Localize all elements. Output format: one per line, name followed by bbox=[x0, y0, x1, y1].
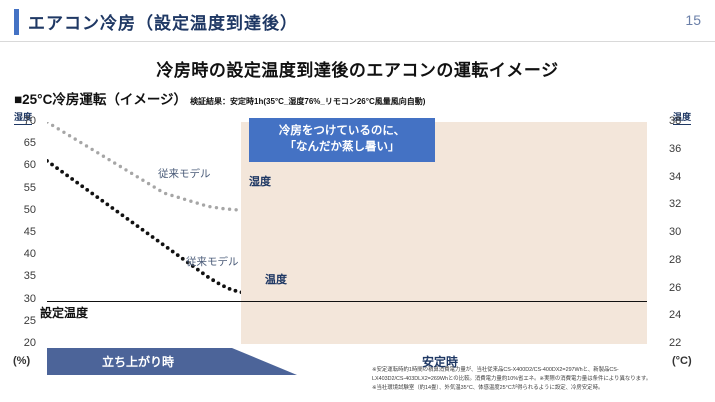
section-label-row: ■25°C冷房運転（イメージ） 検証結果：安定時1h(35°C_湿度76%_リモ… bbox=[14, 88, 425, 108]
phase-startup-label: 立ち上がり時 bbox=[102, 353, 174, 370]
slide-header: エアコン冷房（設定温度到達後） 15 bbox=[0, 0, 715, 40]
axis-tick: 40 bbox=[12, 248, 36, 260]
callout-line-2: 「なんだか蒸し暑い」 bbox=[253, 140, 431, 156]
axis-tick: 50 bbox=[12, 204, 36, 216]
axis-tick: 30 bbox=[12, 293, 36, 305]
chart-area: 湿度 (%) 温度 (°C) 7065605550454035302520 38… bbox=[0, 110, 715, 402]
section-label: ■25°C冷房運転（イメージ） bbox=[14, 88, 187, 108]
axis-tick: 55 bbox=[12, 182, 36, 194]
axis-tick: 20 bbox=[12, 337, 36, 349]
page-number: 15 bbox=[685, 12, 701, 28]
footnote-line-2: LX403D2/CS-403DLX2=269Whとの比較。消費電力量約10%省エ… bbox=[372, 375, 712, 384]
axis-tick: 24 bbox=[669, 309, 693, 321]
axis-tick: 30 bbox=[669, 226, 693, 238]
header-divider bbox=[0, 41, 715, 42]
callout-box: 冷房をつけているのに、 「なんだか蒸し暑い」 bbox=[249, 118, 435, 162]
chart-headline: 冷房時の設定温度到達後のエアコンの運転イメージ bbox=[0, 56, 715, 81]
title-accent-bar bbox=[14, 9, 19, 35]
axis-tick: 32 bbox=[669, 198, 693, 210]
set-temperature-line bbox=[47, 301, 647, 302]
axis-tick: 28 bbox=[669, 254, 693, 266]
left-axis-unit: (%) bbox=[13, 355, 30, 367]
set-temperature-label: 設定温度 bbox=[40, 304, 88, 321]
axis-tick: 36 bbox=[669, 143, 693, 155]
axis-tick: 65 bbox=[12, 137, 36, 149]
page-title: エアコン冷房（設定温度到達後） bbox=[28, 9, 298, 34]
section-note: 検証結果：安定時1h(35°C_湿度76%_リモコン26°C風量風向自動) bbox=[190, 96, 425, 107]
footnote: ※安定運転時約1時間の積算消費電力量が、当社従来品CS-X400D2/CS-40… bbox=[372, 366, 712, 393]
axis-tick: 35 bbox=[12, 270, 36, 282]
humidity-series-label: 湿度 bbox=[249, 173, 271, 189]
callout-line-1: 冷房をつけているのに、 bbox=[253, 124, 431, 140]
temperature-series-label: 温度 bbox=[265, 271, 287, 287]
axis-tick: 60 bbox=[12, 159, 36, 171]
axis-tick: 26 bbox=[669, 282, 693, 294]
axis-tick: 34 bbox=[669, 171, 693, 183]
phase-stable-label: 安定時 bbox=[422, 353, 458, 370]
axis-tick: 22 bbox=[669, 337, 693, 349]
axis-tick: 25 bbox=[12, 315, 36, 327]
axis-tick: 38 bbox=[669, 115, 693, 127]
legacy-humidity-label: 従来モデル bbox=[158, 166, 211, 181]
axis-tick: 70 bbox=[12, 115, 36, 127]
legacy-temperature-label: 従来モデル bbox=[186, 254, 239, 269]
footnote-line-3: ※当社環境試験室（約14畳）、外気温35°C、体感温度25°Cが得られるように設… bbox=[372, 384, 712, 393]
axis-tick: 45 bbox=[12, 226, 36, 238]
